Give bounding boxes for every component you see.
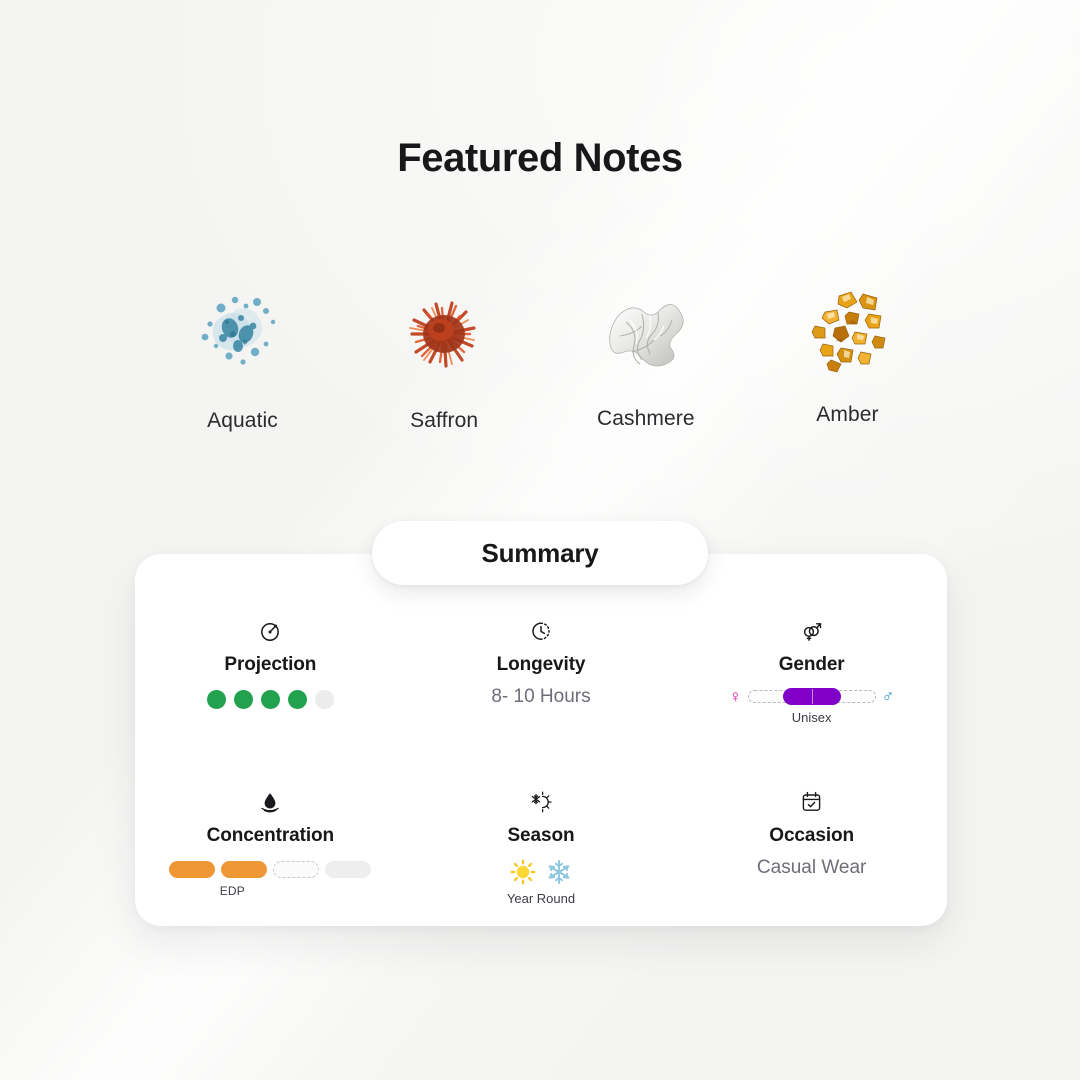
saffron-threads-icon <box>384 282 504 387</box>
note-item-amber[interactable]: Amber <box>755 282 940 427</box>
gender-slider-thumb[interactable] <box>783 688 841 705</box>
summary-cell-gender: Gender ♀ ♂ Unisex <box>676 600 947 763</box>
summary-cell-season: Season <box>406 763 677 926</box>
summary-heading-text: Summary <box>481 538 598 569</box>
concentration-segment-2 <box>221 861 267 878</box>
droplet-icon <box>259 787 281 817</box>
summary-cell-title: Season <box>507 825 574 847</box>
summary-cell-title: Projection <box>224 654 316 676</box>
page-root: Featured Notes <box>0 0 1080 1080</box>
sun-icon <box>510 859 536 885</box>
season-value-label: Year Round <box>507 891 575 906</box>
summary-cell-occasion: Occasion Casual Wear <box>676 763 947 926</box>
amber-resin-icon <box>787 282 907 387</box>
projection-dot-4 <box>288 690 307 709</box>
note-label: Aquatic <box>207 409 278 433</box>
summary-cell-longevity: Longevity 8- 10 Hours <box>406 600 677 763</box>
concentration-segment-4 <box>325 861 371 878</box>
clock-icon <box>529 616 553 646</box>
summary-cell-projection: Projection <box>135 600 406 763</box>
featured-notes-row: Aquatic <box>150 282 940 433</box>
gender-intersect-icon <box>799 616 824 646</box>
male-symbol-icon: ♂ <box>882 688 895 705</box>
projection-dots <box>207 690 334 709</box>
season-badges <box>510 859 572 885</box>
longevity-value: 8- 10 Hours <box>491 686 590 708</box>
concentration-segment-3 <box>273 861 319 878</box>
sun-snow-icon <box>529 787 553 817</box>
projection-dot-1 <box>207 690 226 709</box>
note-label: Saffron <box>410 409 478 433</box>
note-item-aquatic[interactable]: Aquatic <box>150 282 335 433</box>
female-symbol-icon: ♀ <box>729 688 742 705</box>
projection-dot-2 <box>234 690 253 709</box>
summary-cell-title: Longevity <box>497 654 586 676</box>
gender-position-label: Unisex <box>792 710 832 725</box>
cashmere-fabric-icon <box>586 282 706 387</box>
concentration-value-label: EDP <box>220 884 245 898</box>
gender-slider-track[interactable] <box>748 690 876 703</box>
projection-dot-5 <box>315 690 334 709</box>
concentration-bar <box>169 861 371 878</box>
gauge-icon <box>258 616 282 646</box>
summary-cell-title: Concentration <box>207 825 334 847</box>
summary-grid: Projection Longevity 8- 10 Hours <box>135 600 947 926</box>
note-label: Amber <box>816 403 878 427</box>
gender-slider[interactable]: ♀ ♂ <box>729 688 895 705</box>
projection-dot-3 <box>261 690 280 709</box>
featured-notes-title: Featured Notes <box>0 136 1080 181</box>
summary-cell-concentration: Concentration EDP <box>135 763 406 926</box>
note-item-saffron[interactable]: Saffron <box>352 282 537 433</box>
calendar-check-icon <box>800 787 823 817</box>
summary-cell-title: Gender <box>779 654 845 676</box>
concentration-segment-1 <box>169 861 215 878</box>
note-item-cashmere[interactable]: Cashmere <box>553 282 738 431</box>
snowflake-icon <box>546 859 572 885</box>
water-splash-icon <box>183 282 303 387</box>
summary-cell-title: Occasion <box>769 825 854 847</box>
summary-heading-pill: Summary <box>372 521 708 585</box>
note-label: Cashmere <box>597 407 695 431</box>
occasion-value: Casual Wear <box>757 857 866 879</box>
